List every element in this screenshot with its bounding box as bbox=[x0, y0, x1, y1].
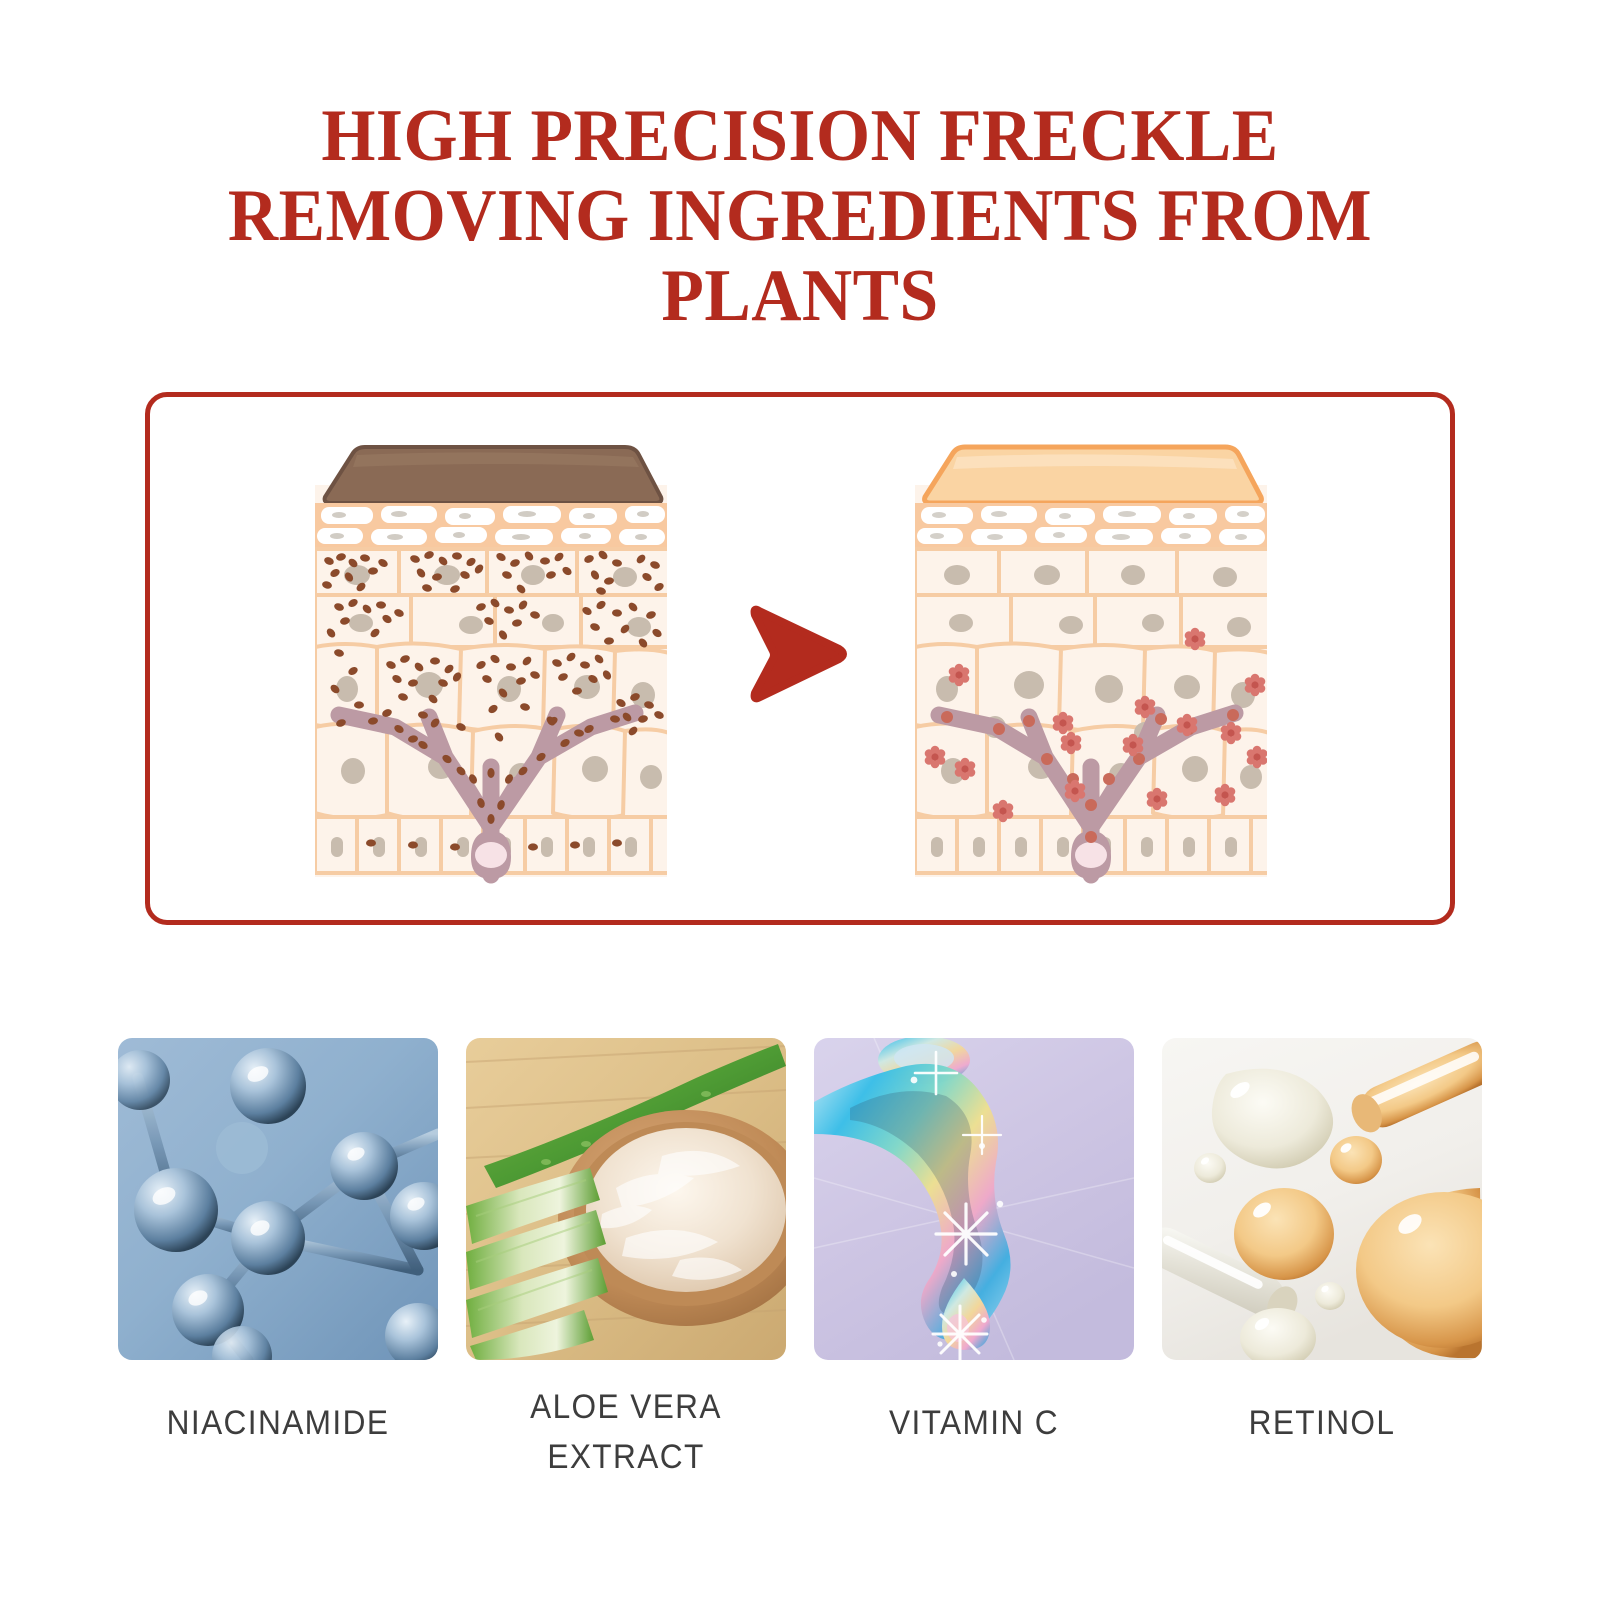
aloe-vera-photo bbox=[466, 1038, 786, 1360]
page-title-line-2: REMOVING INGREDIENTS FROM bbox=[48, 176, 1552, 256]
vitamin-c-serum-drop-photo bbox=[814, 1038, 1134, 1360]
stratum-corneum bbox=[315, 503, 667, 547]
ingredient-label-niacinamide: NIACINAMIDE bbox=[129, 1398, 427, 1448]
ingredient-card-niacinamide[interactable]: NIACINAMIDE bbox=[118, 1038, 438, 1482]
ingredient-label-aloe-vera: ALOE VERA EXTRACT bbox=[477, 1382, 775, 1482]
skin-diagram-after bbox=[895, 427, 1285, 897]
ingredient-label-line-2: EXTRACT bbox=[477, 1432, 775, 1482]
skin-diagram-before bbox=[295, 427, 685, 897]
ingredient-card-retinol[interactable]: RETINOL bbox=[1162, 1038, 1482, 1482]
ingredient-label-vitamin-c: VITAMIN C bbox=[825, 1398, 1123, 1448]
skin-comparison-panel bbox=[145, 392, 1455, 925]
page-title-line-1: HIGH PRECISION FRECKLE bbox=[48, 96, 1552, 176]
stratum-corneum bbox=[915, 503, 1267, 547]
ingredient-label-retinol: RETINOL bbox=[1173, 1398, 1471, 1448]
retinol-oil-droplets-photo bbox=[1162, 1038, 1482, 1360]
page-title-line-3: PLANTS bbox=[48, 256, 1552, 336]
ingredient-card-vitamin-c[interactable]: VITAMIN C bbox=[814, 1038, 1134, 1482]
ingredient-label-line-1: ALOE VERA bbox=[477, 1382, 775, 1432]
page-title: HIGH PRECISION FRECKLE REMOVING INGREDIE… bbox=[0, 96, 1600, 336]
ingredient-list: NIACINAMIDE bbox=[0, 1038, 1600, 1482]
ingredient-card-aloe-vera[interactable]: ALOE VERA EXTRACT bbox=[466, 1038, 786, 1482]
niacinamide-molecule-photo bbox=[118, 1038, 438, 1360]
right-arrow-icon bbox=[735, 593, 855, 713]
